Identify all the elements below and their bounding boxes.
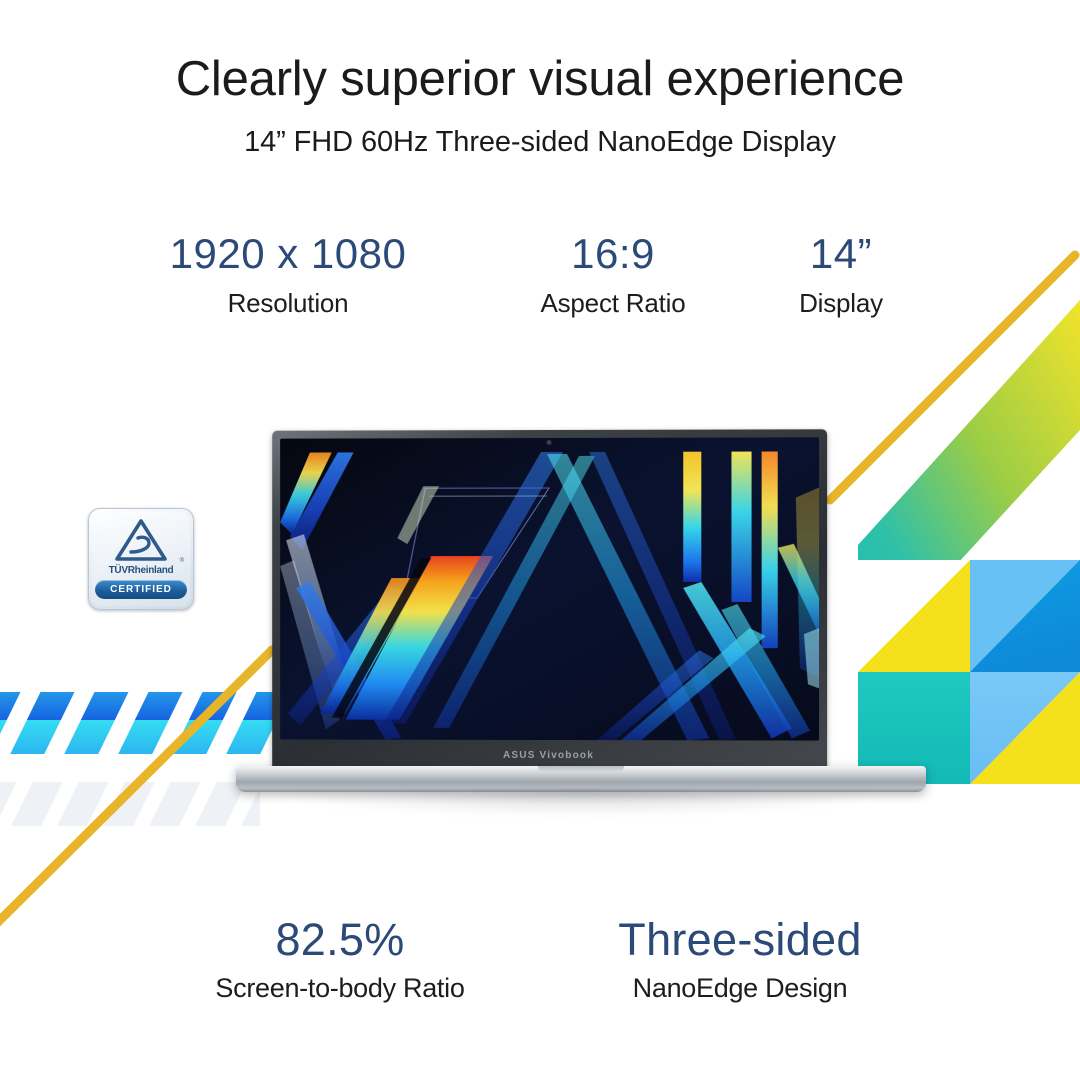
headline: Clearly superior visual experience xyxy=(0,52,1080,107)
badge-status: CERTIFIED xyxy=(95,580,187,599)
stat-item-screen-to-body: 82.5% Screen-to-body Ratio xyxy=(130,915,550,1004)
stat-label: Screen-to-body Ratio xyxy=(130,973,550,1004)
spec-row: 1920 x 1080 Resolution 16:9 Aspect Ratio… xyxy=(0,230,1080,319)
yellow-diagonal-line-left xyxy=(0,650,272,930)
stat-value: 82.5% xyxy=(130,915,550,965)
spec-item-display-size: 14” Display xyxy=(736,230,946,319)
stat-row: 82.5% Screen-to-body Ratio Three-sided N… xyxy=(0,915,1080,1004)
tuv-rheinland-certified-badge: ® TÜVRheinland CERTIFIED xyxy=(88,508,194,610)
product-feature-graphic: Clearly superior visual experience 14” F… xyxy=(0,0,1080,1080)
badge-name: TÜVRheinland xyxy=(89,565,193,576)
stat-label: NanoEdge Design xyxy=(550,973,930,1004)
left-ghost-stripe-band xyxy=(0,782,260,826)
laptop-lid: ASUS Vivobook xyxy=(272,429,827,770)
spec-label: Display xyxy=(736,288,946,319)
base-notch xyxy=(538,766,624,772)
registered-mark: ® xyxy=(180,558,184,564)
spec-label: Resolution xyxy=(78,288,498,319)
laptop-shadow xyxy=(266,790,896,816)
spec-item-resolution: 1920 x 1080 Resolution xyxy=(78,230,498,319)
tuv-triangle-logo-icon xyxy=(115,518,167,567)
display-bezel xyxy=(280,437,819,740)
subheadline: 14” FHD 60Hz Three-sided NanoEdge Displa… xyxy=(0,126,1080,159)
webcam-icon xyxy=(546,440,551,445)
stat-item-nanoedge: Three-sided NanoEdge Design xyxy=(550,915,930,1004)
laptop-brand-label: ASUS Vivobook xyxy=(272,749,827,761)
screen-wallpaper xyxy=(280,437,819,740)
spec-value: 1920 x 1080 xyxy=(78,230,498,278)
spec-label: Aspect Ratio xyxy=(498,288,728,319)
spec-item-aspect-ratio: 16:9 Aspect Ratio xyxy=(498,230,728,319)
laptop-product-image: ASUS Vivobook xyxy=(236,430,926,810)
spec-value: 16:9 xyxy=(498,230,728,278)
stat-value: Three-sided xyxy=(550,915,930,965)
spec-value: 14” xyxy=(736,230,946,278)
laptop-base xyxy=(236,766,926,792)
